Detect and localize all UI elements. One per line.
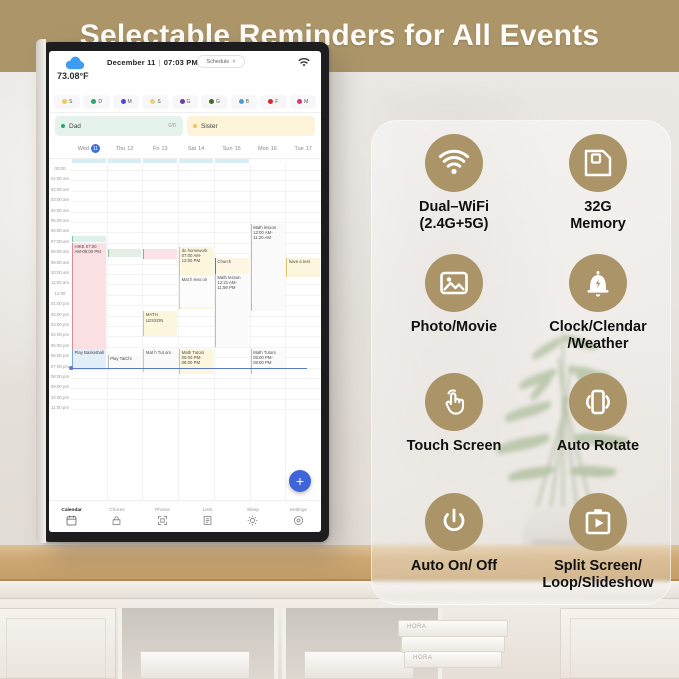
time-label: 12:00	[49, 291, 71, 296]
book-label: HORA	[407, 624, 426, 630]
grid-hour-line	[71, 212, 321, 213]
day-number: 14	[198, 146, 204, 152]
book-label-2: HORA	[413, 655, 432, 661]
time-label: 01:00 pm	[49, 301, 71, 306]
person-chip[interactable]: F	[260, 95, 286, 109]
sleep-icon	[247, 515, 258, 526]
person-color-dot	[297, 99, 302, 104]
feature-icon-badge	[425, 493, 483, 551]
person-initial: D	[98, 99, 102, 105]
person-chip[interactable]: B	[231, 95, 257, 109]
calendar-event[interactable]	[72, 236, 106, 242]
feature-icon-badge	[425, 373, 483, 431]
touch-hand-icon	[438, 386, 470, 418]
person-color-dot	[150, 99, 155, 104]
cloud-icon	[64, 56, 86, 70]
nav-label: Calendar	[61, 508, 82, 513]
feature-caption-line1: Touch Screen	[407, 438, 502, 455]
feature-caption-line2: (2.4G+5G)	[419, 216, 489, 233]
day-weekday: Sun	[223, 146, 233, 152]
day-header-tue[interactable]: Tue17	[285, 139, 321, 158]
day-header-wed[interactable]: Wed11	[71, 139, 107, 158]
person-initial: M	[128, 99, 132, 105]
person-color-dot	[121, 99, 126, 104]
day-number: 12	[127, 146, 133, 152]
feature-caption-line1: Split Screen/	[542, 558, 653, 575]
time-label: 00:00	[49, 166, 71, 171]
time-label: 11:00 pm	[49, 405, 71, 410]
calendar-event[interactable]: Math lesson 12:21 AM-11:59 PM	[215, 274, 249, 347]
calendar-event[interactable]: Math Tutors 05:00 PM-08:00 PM	[179, 349, 213, 374]
time-label: 01:00 am	[49, 176, 71, 181]
shelf-item	[140, 651, 250, 679]
day-allday-slot	[215, 159, 249, 163]
day-allday-slot	[143, 159, 177, 163]
event-title: Math Tutors 05:00 PM-08:00 PM	[182, 350, 205, 365]
grid-hour-line	[71, 388, 321, 389]
person-chip[interactable]: D	[83, 95, 109, 109]
person-color-dot	[209, 99, 214, 104]
calendar-event[interactable]: MATH LESSON	[143, 311, 177, 336]
nav-label: Sleep	[247, 508, 259, 513]
feature-caption-line2: Loop/Slideshow	[542, 575, 653, 592]
calendar-event[interactable]: Math lesson 12:00 AM-11:20 AM	[251, 224, 285, 311]
calendar-event[interactable]: have a test	[286, 258, 320, 277]
feature-caption-line1: Clock/Clendar	[549, 319, 647, 336]
owner-bar[interactable]: Dad0/0	[55, 116, 183, 136]
book-stack: HORA HORA	[398, 620, 508, 668]
day-allday-slot	[108, 159, 142, 163]
event-time: 07:00 AM-12:00 PM	[182, 253, 202, 263]
feature-floppy-disk: 32GMemory	[526, 128, 670, 248]
event-title: Mat h less on	[182, 277, 208, 282]
bottom-navigation[interactable]: CalendarChoresPhotosListsSleepSettings	[49, 500, 321, 532]
tablet-device: 73.08°F December 11|07:03 PM Schedule ˅ …	[41, 42, 329, 542]
calendar-event[interactable]: Math Tutors 05:00 PM-08:00 PM	[251, 349, 285, 374]
time-label: 11:00 am	[49, 280, 71, 285]
owner-bar[interactable]: Sister	[187, 116, 315, 136]
nav-label: Photos	[155, 508, 170, 513]
feature-icon-badge	[569, 134, 627, 192]
nav-item-photos[interactable]: Photos	[140, 501, 185, 532]
image-icon	[438, 267, 470, 299]
chevron-down-icon: ˅	[232, 59, 235, 65]
day-weekday: Thu	[116, 146, 125, 152]
event-title: Math lesson 12:00 AM-11:20 AM	[253, 225, 276, 240]
time-label: 07:00 am	[49, 239, 71, 244]
person-initial: M	[304, 99, 308, 105]
time-label: 07:00 pm	[49, 364, 71, 369]
feature-icon-badge	[425, 254, 483, 312]
day-allday-slot	[286, 159, 320, 163]
time-label: 10:00 pm	[49, 395, 71, 400]
feature-grid: Dual–WiFi(2.4G+5G)32GMemoryPhoto/MovieCl…	[382, 128, 670, 606]
feature-icon-badge	[569, 254, 627, 312]
tablet-side-edge	[36, 39, 46, 543]
owner-color-dot	[193, 124, 197, 128]
day-weekday: Tue	[294, 146, 303, 152]
person-chip[interactable]: M	[113, 95, 139, 109]
wifi-icon	[438, 147, 470, 179]
person-color-dot	[91, 99, 96, 104]
day-number: 15	[235, 146, 241, 152]
time-label: 05:00 am	[49, 218, 71, 223]
feature-wifi: Dual–WiFi(2.4G+5G)	[382, 128, 526, 248]
event-columns[interactable]: HIKE 07:00 AM-05:00 PMdo homework 07:00 …	[71, 164, 321, 500]
owner-count: 0/0	[168, 123, 176, 129]
nav-label: Settings	[290, 508, 307, 513]
grid-hour-line	[71, 191, 321, 192]
feature-caption: Photo/Movie	[411, 319, 497, 336]
owner-name: Dad	[69, 123, 81, 130]
time-text: 07:03 PM	[164, 58, 198, 67]
event-title: Play Basketball	[75, 350, 104, 355]
feature-caption: Auto Rotate	[557, 438, 639, 455]
feature-caption-line1: Dual–WiFi	[419, 199, 489, 216]
person-chip[interactable]: S	[142, 95, 168, 109]
day-header-mon[interactable]: Mon16	[250, 139, 286, 158]
time-label: 10:00 am	[49, 270, 71, 275]
feature-icon-badge	[569, 493, 627, 551]
day-number: 17	[306, 146, 312, 152]
grid-hour-line	[71, 201, 321, 202]
time-label: 05:00 pm	[49, 343, 71, 348]
person-initial: G	[187, 99, 191, 105]
time-label: 08:00 pm	[49, 374, 71, 379]
day-allday-slot	[179, 159, 213, 163]
grid-hour-line	[71, 336, 321, 337]
feature-caption-line1: Auto On/ Off	[411, 558, 497, 575]
time-label: 09:00 pm	[49, 384, 71, 389]
calendar-event[interactable]: Play Basketball	[72, 349, 106, 370]
person-initial: S	[157, 99, 160, 105]
event-title: Math lesson 12:21 AM-11:59 PM	[217, 275, 240, 290]
person-chip[interactable]: G	[172, 95, 198, 109]
person-chip[interactable]: G	[201, 95, 227, 109]
day-weekday: Wed	[78, 146, 89, 152]
photos-icon	[157, 515, 168, 526]
time-label: 04:00 pm	[49, 332, 71, 337]
person-chip[interactable]: M	[290, 95, 316, 109]
floppy-disk-icon	[582, 147, 614, 179]
lists-icon	[202, 515, 213, 526]
day-number: 11	[91, 144, 100, 153]
owner-summary-row[interactable]: Dad0/0Sister	[49, 113, 321, 139]
time-label: 02:00 pm	[49, 312, 71, 317]
feature-caption: 32GMemory	[570, 199, 626, 233]
person-filter-chips[interactable]: SDMSGGBFM	[49, 91, 321, 113]
feature-caption: Touch Screen	[407, 438, 502, 455]
time-label: 03:00 am	[49, 197, 71, 202]
person-initial: G	[216, 99, 220, 105]
chores-icon	[111, 515, 122, 526]
auto-rotate-icon	[582, 386, 614, 418]
time-label: 02:00 am	[49, 187, 71, 192]
event-title: have a test	[289, 259, 310, 264]
feature-caption-line1: Photo/Movie	[411, 319, 497, 336]
nav-item-settings[interactable]: Settings	[276, 501, 321, 532]
calendar-icon	[66, 515, 77, 526]
feature-icon-badge	[425, 134, 483, 192]
feature-image: Photo/Movie	[382, 248, 526, 368]
calendar-grid[interactable]: 00:0001:00 am02:00 am03:00 am04:00 am05:…	[49, 164, 321, 500]
feature-caption-line2: /Weather	[549, 336, 647, 353]
time-label: 08:00 am	[49, 249, 71, 254]
slideshow-icon	[582, 506, 614, 538]
schedule-dropdown-label: Schedule	[206, 59, 229, 65]
nav-label: Lists	[203, 508, 213, 513]
time-label: 06:00 am	[49, 228, 71, 233]
feature-caption: Auto On/ Off	[411, 558, 497, 575]
date-time-separator: |	[158, 58, 160, 67]
feature-caption: Split Screen/Loop/Slideshow	[542, 558, 653, 592]
time-label: 03:00 pm	[49, 322, 71, 327]
person-color-dot	[239, 99, 244, 104]
grid-day-line	[250, 164, 251, 500]
grid-day-line	[178, 164, 179, 500]
event-title: Play TaiChi	[110, 356, 131, 361]
calendar-event[interactable]	[143, 249, 177, 259]
feature-caption: Clock/Clendar/Weather	[549, 319, 647, 353]
day-weekday: Sat	[188, 146, 196, 152]
grid-day-line	[107, 164, 108, 500]
event-title: Mat h Tut ors	[146, 350, 171, 355]
feature-power: Auto On/ Off	[382, 487, 526, 607]
feature-alarm-bell: Clock/Clendar/Weather	[526, 248, 670, 368]
day-weekday: Mon	[258, 146, 269, 152]
calendar-event[interactable]	[108, 249, 142, 257]
date-time-display: December 11|07:03 PM	[107, 58, 198, 67]
owner-name: Sister	[201, 123, 218, 130]
person-chip[interactable]: S	[54, 95, 80, 109]
grid-hour-line	[71, 170, 321, 171]
date-text: December 11	[107, 58, 155, 67]
grid-day-line	[285, 164, 286, 500]
day-allday-slot	[72, 159, 106, 163]
event-title: Church	[217, 259, 231, 264]
calendar-event[interactable]: HIKE 07:00 AM-05:00 PM	[72, 243, 106, 349]
person-initial: B	[246, 99, 249, 105]
time-label: 06:00 pm	[49, 353, 71, 358]
feature-caption: Dual–WiFi(2.4G+5G)	[419, 199, 489, 233]
feature-icon-badge	[569, 373, 627, 431]
day-allday-slot	[251, 159, 285, 163]
current-time-indicator	[71, 368, 307, 369]
day-header-row[interactable]: Wed11Thu12Fri13Sat14Sun15Mon16Tue17	[49, 139, 321, 159]
schedule-dropdown[interactable]: Schedule ˅	[197, 55, 245, 68]
grid-hour-line	[71, 316, 321, 317]
calendar-event[interactable]: Church	[215, 258, 249, 274]
screen-header: 73.08°F December 11|07:03 PM Schedule ˅	[49, 51, 321, 91]
time-axis-column: 00:0001:00 am02:00 am03:00 am04:00 am05:…	[49, 164, 71, 500]
time-label: 04:00 am	[49, 208, 71, 213]
cabinet-door-left	[0, 608, 116, 679]
add-event-fab[interactable]: +	[289, 470, 311, 492]
day-header-sun[interactable]: Sun15	[214, 139, 250, 158]
grid-hour-line	[71, 409, 321, 410]
person-color-dot	[62, 99, 67, 104]
nav-item-chores[interactable]: Chores	[94, 501, 139, 532]
feature-auto-rotate: Auto Rotate	[526, 367, 670, 487]
nav-item-calendar[interactable]: Calendar	[49, 501, 94, 532]
calendar-event[interactable]: Mat h less on	[179, 276, 213, 307]
day-number: 13	[161, 146, 167, 152]
alarm-bell-icon	[582, 267, 614, 299]
feature-caption-line1: 32G	[570, 199, 626, 216]
cabinet-door-right	[560, 608, 679, 679]
shelf-left	[118, 608, 278, 679]
tablet-screen[interactable]: 73.08°F December 11|07:03 PM Schedule ˅ …	[49, 51, 321, 532]
time-label: 09:00 am	[49, 260, 71, 265]
feature-slideshow: Split Screen/Loop/Slideshow	[526, 487, 670, 607]
temperature-readout: 73.08°F	[57, 71, 89, 81]
person-color-dot	[180, 99, 185, 104]
grid-hour-line	[71, 180, 321, 181]
wifi-icon	[297, 57, 311, 68]
grid-hour-line	[71, 347, 321, 348]
nav-item-lists[interactable]: Lists	[185, 501, 230, 532]
owner-color-dot	[61, 124, 65, 128]
nav-item-sleep[interactable]: Sleep	[230, 501, 275, 532]
day-header-thu[interactable]: Thu12	[107, 139, 143, 158]
day-header-fri[interactable]: Fri13	[142, 139, 178, 158]
event-title: Math Tutors 05:00 PM-08:00 PM	[253, 350, 276, 365]
day-number: 16	[271, 146, 277, 152]
feature-touch-hand: Touch Screen	[382, 367, 526, 487]
person-color-dot	[268, 99, 273, 104]
power-icon	[438, 506, 470, 538]
settings-icon	[293, 515, 304, 526]
feature-caption-line2: Memory	[570, 216, 626, 233]
person-initial: S	[69, 99, 72, 105]
grid-hour-line	[71, 222, 321, 223]
grid-hour-line	[71, 326, 321, 327]
day-weekday: Fri	[153, 146, 159, 152]
grid-hour-line	[71, 378, 321, 379]
grid-hour-line	[71, 399, 321, 400]
person-initial: F	[275, 99, 278, 105]
nav-label: Chores	[109, 508, 124, 513]
feature-caption-line1: Auto Rotate	[557, 438, 639, 455]
day-header-sat[interactable]: Sat14	[178, 139, 214, 158]
event-title: MATH LESSON	[146, 312, 163, 322]
